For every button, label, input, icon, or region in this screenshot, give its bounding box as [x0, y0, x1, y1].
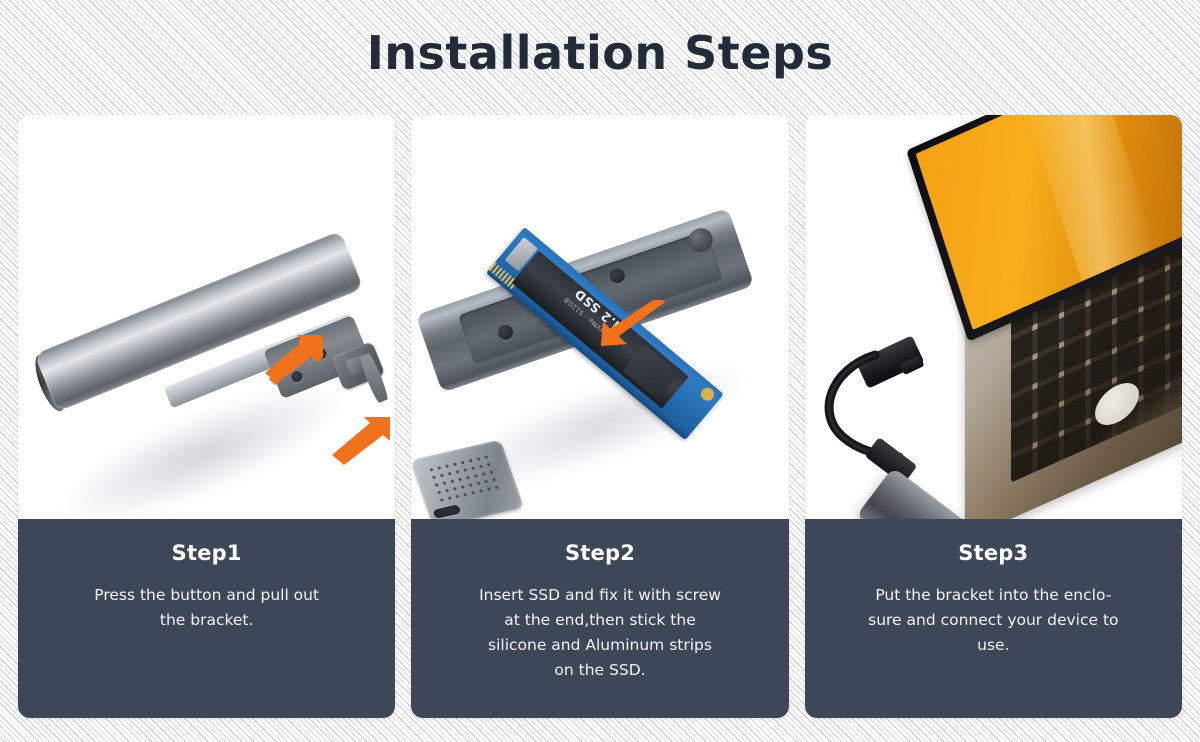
step-1-photo	[18, 115, 395, 519]
step-2-text: Insert SSD and fix it with screw at the …	[411, 583, 788, 683]
laptop-connection-illustration: MAIWO	[805, 115, 1182, 519]
vent-holes-pattern	[427, 452, 503, 506]
step-card-3: MAIWO Step3 Put the bracket into the enc…	[805, 115, 1182, 718]
arrow-down-left-icon	[597, 300, 667, 359]
step-1-title: Step1	[18, 541, 395, 565]
steps-container: Step1 Press the button and pull out the …	[18, 115, 1182, 718]
ssd-insertion-illustration: M.2 SSD PCIe NVMe - 512GB	[411, 115, 788, 519]
step-3-title: Step3	[805, 541, 1182, 565]
step-2-title: Step2	[411, 541, 788, 565]
step-1-text: Press the button and pull out the bracke…	[18, 583, 395, 633]
page-title: Installation Steps	[367, 26, 834, 80]
arrow-up-right-icon	[330, 415, 392, 472]
enclosure-illustration	[18, 115, 395, 519]
step-2-caption: Step2 Insert SSD and fix it with screw a…	[411, 519, 788, 718]
page-header: Installation Steps	[0, 26, 1200, 80]
step-card-1: Step1 Press the button and pull out the …	[18, 115, 395, 718]
installation-steps-page: Installation Steps	[0, 0, 1200, 742]
step-card-2: M.2 SSD PCIe NVMe - 512GB Step2 Insert S…	[411, 115, 788, 718]
step-3-caption: Step3 Put the bracket into the enclo- su…	[805, 519, 1182, 718]
ssd-notch	[699, 385, 717, 403]
usb-c-port-icon	[433, 504, 461, 518]
step-3-photo: MAIWO	[805, 115, 1182, 519]
arrow-up-right-icon	[263, 333, 325, 390]
step-3-text: Put the bracket into the enclo- sure and…	[805, 583, 1182, 658]
step-1-caption: Step1 Press the button and pull out the …	[18, 519, 395, 718]
step-2-photo: M.2 SSD PCIe NVMe - 512GB	[411, 115, 788, 519]
